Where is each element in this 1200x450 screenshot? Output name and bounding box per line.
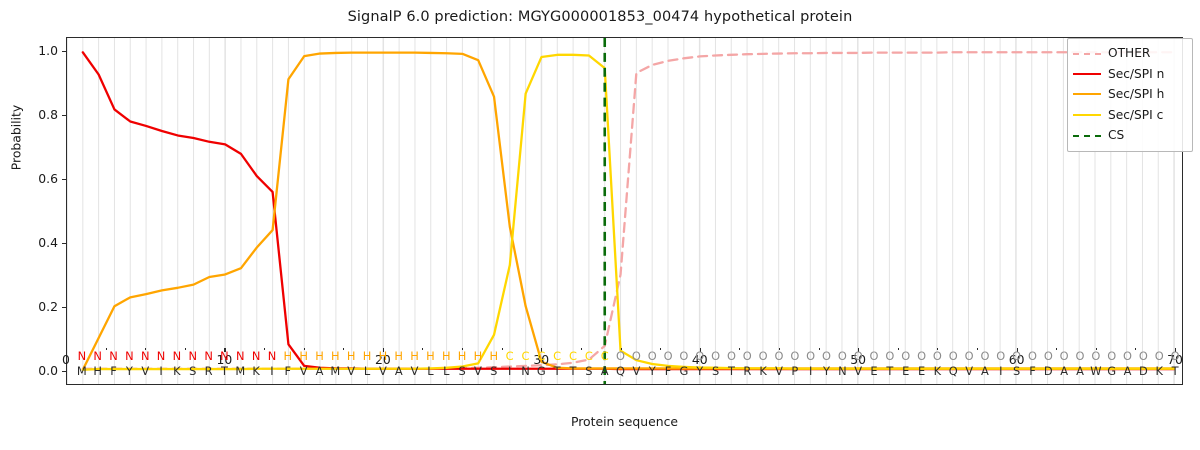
legend-swatch-icon bbox=[1073, 48, 1101, 59]
plot-area bbox=[66, 37, 1183, 385]
legend-item-cs[interactable]: CS bbox=[1073, 125, 1187, 146]
y-tick-label: 1.0 bbox=[20, 43, 58, 58]
series-other bbox=[83, 52, 1174, 368]
region-state-row: NNNNNNNNNNNNNHHHHHHHHHHHHHHCCCCCCCOOOOOO… bbox=[66, 349, 1183, 364]
y-tick-mark bbox=[62, 243, 66, 244]
series-sec-spi-n bbox=[83, 52, 1174, 369]
y-tick-label: 0.8 bbox=[20, 107, 58, 122]
legend-label: Sec/SPI n bbox=[1108, 67, 1164, 81]
series-sec-spi-c bbox=[83, 55, 1174, 370]
y-tick-mark bbox=[62, 115, 66, 116]
y-axis-label: Probability bbox=[9, 68, 24, 208]
amino-acid-sequence-row: MHFYVIKSRTMKIFVAMVLVAVLLSVSINGTTSAQVYFGY… bbox=[66, 364, 1183, 379]
y-tick-label: 0.2 bbox=[20, 299, 58, 314]
residue-letter: T bbox=[1166, 364, 1184, 379]
legend-item-other[interactable]: OTHER bbox=[1073, 43, 1187, 64]
legend-swatch-icon bbox=[1073, 109, 1101, 120]
region-state-letter: O bbox=[1166, 349, 1184, 364]
legend-item-sec-spi-c[interactable]: Sec/SPI c bbox=[1073, 105, 1187, 126]
legend-swatch-icon bbox=[1073, 68, 1101, 79]
legend-swatch-icon bbox=[1073, 130, 1101, 141]
y-tick-mark bbox=[62, 179, 66, 180]
legend-swatch-icon bbox=[1073, 89, 1101, 100]
legend-label: Sec/SPI h bbox=[1108, 87, 1164, 101]
page-title: SignalP 6.0 prediction: MGYG000001853_00… bbox=[0, 9, 1200, 25]
legend-item-sec-spi-n[interactable]: Sec/SPI n bbox=[1073, 64, 1187, 85]
legend: OTHERSec/SPI nSec/SPI hSec/SPI cCS bbox=[1067, 38, 1193, 152]
x-axis-label: Protein sequence bbox=[66, 414, 1183, 429]
y-tick-mark bbox=[62, 51, 66, 52]
legend-label: CS bbox=[1108, 128, 1124, 142]
y-tick-label: 0.6 bbox=[20, 171, 58, 186]
y-tick-label: 0.4 bbox=[20, 235, 58, 250]
y-tick-mark bbox=[62, 307, 66, 308]
legend-label: Sec/SPI c bbox=[1108, 108, 1163, 122]
signalp-prediction-figure: SignalP 6.0 prediction: MGYG000001853_00… bbox=[0, 0, 1200, 450]
series-sec-spi-h bbox=[83, 53, 1174, 370]
probability-curves bbox=[67, 38, 1182, 384]
legend-label: OTHER bbox=[1108, 46, 1150, 60]
legend-item-sec-spi-h[interactable]: Sec/SPI h bbox=[1073, 84, 1187, 105]
